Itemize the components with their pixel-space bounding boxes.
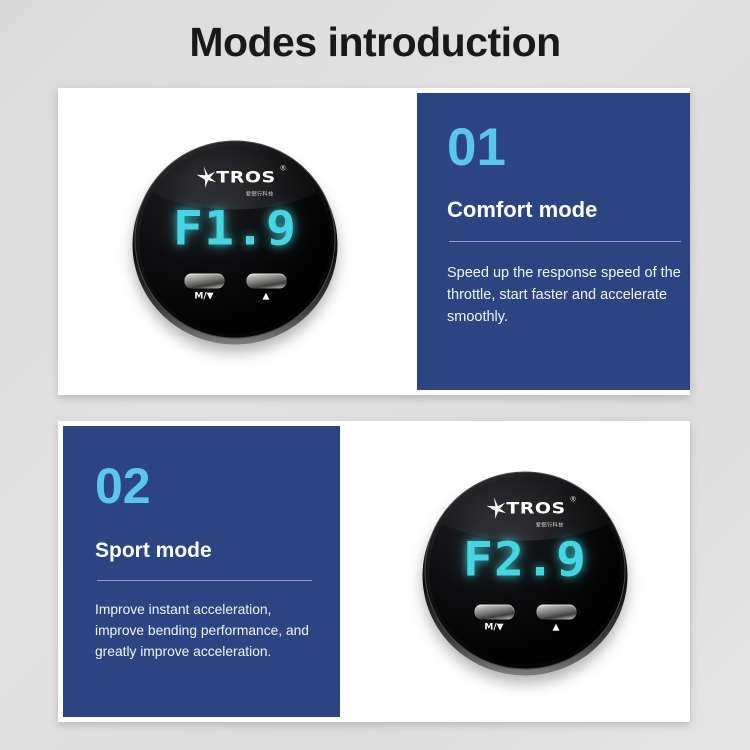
device-wrapper: TROS ® 爱弼行科技 F2.9 M/▼ ▲ <box>423 472 628 677</box>
mode-number: 01 <box>447 119 683 177</box>
device-button-row: M/▼ ▲ <box>140 274 331 302</box>
mode-description: Improve instant acceleration, improve be… <box>95 599 314 662</box>
registered-icon: ® <box>281 166 286 173</box>
brand-subtitle-cn: 爱弼行科技 <box>536 523 564 528</box>
device-face: TROS ® 爱弼行科技 F1.9 M/▼ ▲ <box>140 146 331 334</box>
brand-name: TROS <box>506 501 565 517</box>
divider <box>97 580 312 581</box>
device-image-pane: TROS ® 爱弼行科技 F2.9 M/▼ ▲ <box>345 421 690 722</box>
registered-icon: ® <box>571 497 576 504</box>
star-x-icon <box>194 166 217 189</box>
mode-description: Speed up the response speed of the throt… <box>447 262 683 328</box>
mode-heading: Sport mode <box>95 536 314 566</box>
up-button-cell[interactable]: ▲ <box>246 274 286 302</box>
mode-card-comfort: TROS ® 爱弼行科技 F1.9 M/▼ ▲ <box>58 88 690 395</box>
device-wrapper: TROS ® 爱弼行科技 F1.9 M/▼ ▲ <box>133 141 338 346</box>
device-face: TROS ® 爱弼行科技 F2.9 M/▼ ▲ <box>430 477 621 665</box>
device-button-row: M/▼ ▲ <box>430 605 621 633</box>
star-x-icon <box>484 497 507 520</box>
mode-down-button[interactable] <box>474 605 514 620</box>
mode-down-button-cell[interactable]: M/▼ <box>474 605 514 633</box>
mode-number: 02 <box>95 458 314 514</box>
up-button[interactable] <box>246 274 286 289</box>
up-button-label: ▲ <box>246 292 286 302</box>
brand-name: TROS <box>216 170 275 186</box>
mode-down-button-label: M/▼ <box>474 623 514 633</box>
mode-heading: Comfort mode <box>447 195 683 225</box>
mode-info-pane-comfort: 01 Comfort mode Speed up the response sp… <box>412 88 690 395</box>
brand-logo: TROS ® 爱弼行科技 <box>140 166 331 189</box>
page-title: Modes introduction <box>0 14 750 70</box>
mode-down-button-cell[interactable]: M/▼ <box>184 274 224 302</box>
up-button-cell[interactable]: ▲ <box>536 605 576 633</box>
mode-down-button[interactable] <box>184 274 224 289</box>
led-display-value: F2.9 <box>430 533 621 588</box>
mode-card-sport: TROS ® 爱弼行科技 F2.9 M/▼ ▲ <box>58 421 690 722</box>
up-button-label: ▲ <box>536 623 576 633</box>
device-image-pane: TROS ® 爱弼行科技 F1.9 M/▼ ▲ <box>58 88 412 395</box>
brand-subtitle-cn: 爱弼行科技 <box>246 192 274 197</box>
brand-logo: TROS ® 爱弼行科技 <box>430 497 621 520</box>
mode-down-button-label: M/▼ <box>184 292 224 302</box>
divider <box>449 241 681 242</box>
throttle-controller-device: TROS ® 爱弼行科技 F2.9 M/▼ ▲ <box>423 472 628 677</box>
led-display-value: F1.9 <box>140 202 331 257</box>
up-button[interactable] <box>536 605 576 620</box>
throttle-controller-device: TROS ® 爱弼行科技 F1.9 M/▼ ▲ <box>133 141 338 346</box>
mode-info-pane-sport: 02 Sport mode Improve instant accelerati… <box>58 421 345 722</box>
